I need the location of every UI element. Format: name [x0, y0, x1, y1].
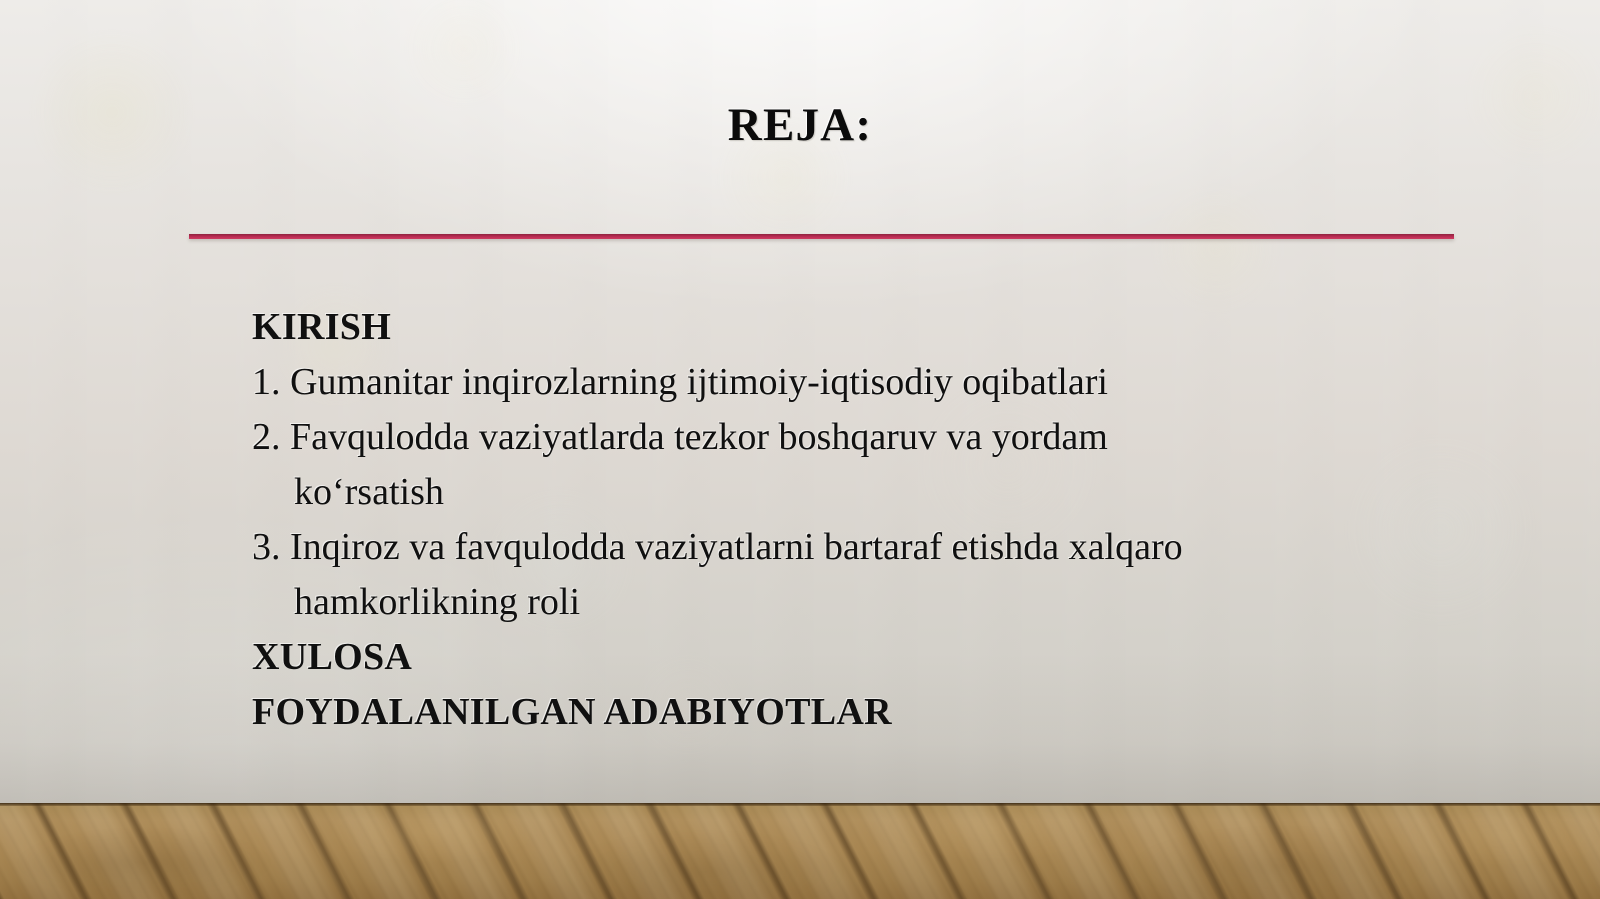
list-item: 3. Inqiroz va favqulodda vaziyatlarni ba…: [252, 520, 1432, 575]
title-divider-rule: [189, 234, 1454, 239]
presentation-slide: REJA: KIRISH 1. Gumanitar inqirozlarning…: [0, 0, 1600, 899]
list-item: XULOSA: [252, 630, 1432, 685]
list-item: 2. Favqulodda vaziyatlarda tezkor boshqa…: [252, 410, 1432, 465]
list-item-continuation: ko‘rsatish: [252, 465, 1432, 520]
slide-title: REJA:: [0, 98, 1600, 152]
list-item-continuation: hamkorlikning roli: [252, 575, 1432, 630]
floor-wall-junction: [0, 803, 1600, 806]
list-item: KIRISH: [252, 300, 1432, 355]
floor-color-variation: [0, 803, 1600, 899]
agenda-list: KIRISH 1. Gumanitar inqirozlarning ijtim…: [252, 300, 1432, 740]
list-item: FOYDALANILGAN ADABIYOTLAR: [252, 685, 1432, 740]
list-item: 1. Gumanitar inqirozlarning ijtimoiy-iqt…: [252, 355, 1432, 410]
wooden-floor: [0, 803, 1600, 899]
